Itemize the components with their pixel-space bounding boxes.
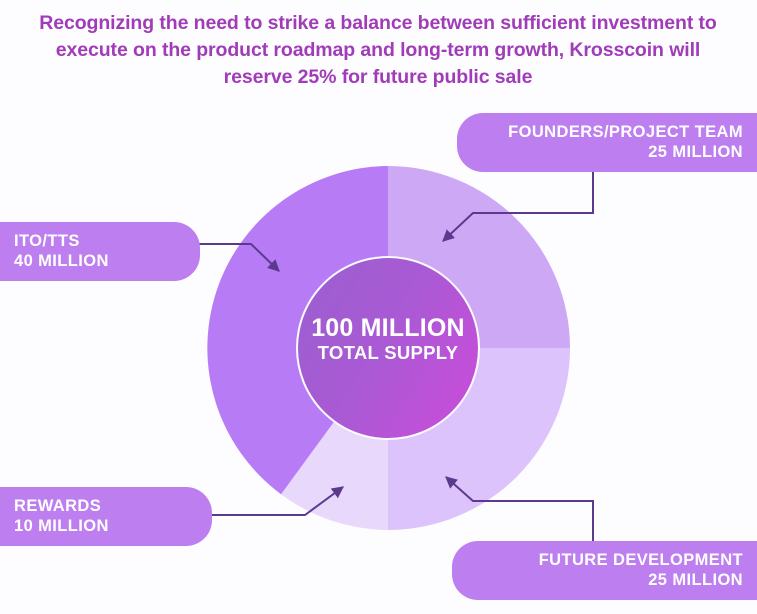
label-future-development[interactable]: FUTURE DEVELOPMENT 25 MILLION xyxy=(452,541,757,600)
label-future-development-name: FUTURE DEVELOPMENT xyxy=(466,550,743,570)
label-founders-amount: 25 MILLION xyxy=(471,142,743,162)
label-ito-tts-name: ITO/TTS xyxy=(14,231,186,251)
label-founders[interactable]: FOUNDERS/PROJECT TEAM 25 MILLION xyxy=(457,113,757,172)
infographic-canvas: Recognizing the need to strike a balance… xyxy=(0,0,757,614)
label-ito-tts[interactable]: ITO/TTS 40 MILLION xyxy=(0,222,200,281)
label-founders-name: FOUNDERS/PROJECT TEAM xyxy=(471,122,743,142)
label-rewards[interactable]: REWARDS 10 MILLION xyxy=(0,487,212,546)
label-rewards-name: REWARDS xyxy=(14,496,198,516)
label-ito-tts-amount: 40 MILLION xyxy=(14,251,186,271)
label-rewards-amount: 10 MILLION xyxy=(14,516,198,536)
label-future-development-amount: 25 MILLION xyxy=(466,570,743,590)
center-disc xyxy=(298,258,478,438)
